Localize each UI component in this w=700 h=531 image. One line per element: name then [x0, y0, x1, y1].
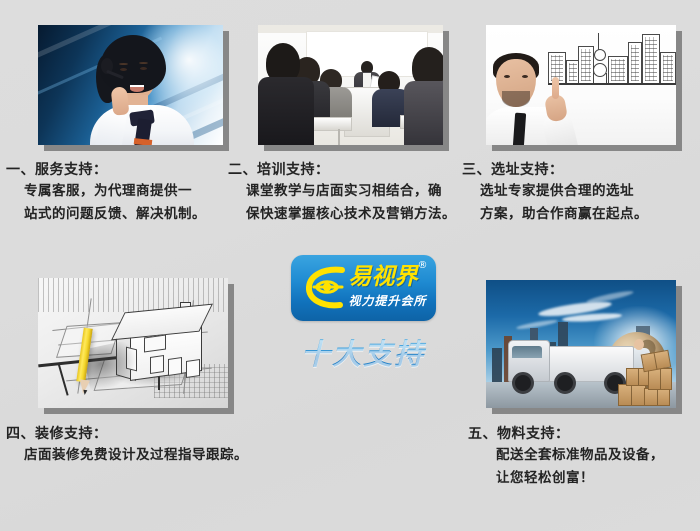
sketched-tv-tower: [592, 39, 606, 83]
caption-body: 选址专家提供合理的选址 方案，助合作商赢在起点。: [462, 180, 648, 226]
caption-body: 课堂教学与店面实习相结合，确 保快速掌握核心技术及营销方法。: [228, 180, 456, 226]
tower-legs: [593, 73, 607, 83]
agent-eye-right: [140, 67, 147, 70]
caption-line: 课堂教学与店面实习相结合，确: [246, 180, 456, 203]
house-window: [150, 355, 164, 374]
caption-training-support: 二、培训支持： 课堂教学与店面实习相结合，确 保快速掌握核心技术及营销方法。: [228, 160, 456, 226]
man-pointing-finger: [552, 77, 559, 99]
student-body: [258, 77, 314, 145]
eye-e-monogram-icon: [302, 263, 350, 311]
truck-wheel: [554, 372, 576, 394]
caption-line: 方案，助合作商赢在起点。: [480, 203, 648, 226]
sketched-building: [608, 56, 628, 83]
caption-line: 专属客服，为代理商提供一: [24, 180, 206, 203]
agent-eyebrow-right: [139, 62, 148, 64]
caption-site-selection-support: 三、选址支持： 选址专家提供合理的选址 方案，助合作商赢在起点。: [462, 160, 648, 226]
desk-leg: [338, 129, 340, 145]
photo-service-support: [38, 25, 223, 145]
caption-line: 选址专家提供合理的选址: [480, 180, 648, 203]
promo-poster: 一、服务支持： 专属客服，为代理商提供一 站式的问题反馈、解决机制。 二、培训支…: [0, 0, 700, 531]
photo-training-support-inner: [258, 25, 443, 145]
caption-line: 保快速掌握核心技术及营销方法。: [246, 203, 456, 226]
truck-windshield: [512, 346, 542, 358]
pencil-lead: [83, 390, 88, 396]
city-building: [492, 348, 502, 382]
caption-title: 五、物料支持：: [468, 424, 664, 444]
caption-body: 专属客服，为代理商提供一 站式的问题反馈、解决机制。: [6, 180, 206, 226]
photo-service-support-inner: [38, 25, 223, 145]
agent-eyebrow-left: [119, 63, 128, 65]
photo-decoration-support: [38, 278, 228, 408]
photo-site-selection-support: [486, 25, 676, 145]
sketched-building: [660, 52, 676, 83]
brand-logo-block: 易视界 视力提升会所 ® 十大支持: [283, 255, 443, 370]
brand-subtitle: 视力提升会所: [349, 293, 427, 309]
sketched-building: [628, 42, 642, 83]
agent-smile: [130, 85, 144, 92]
cardboard-box: [618, 384, 646, 406]
caption-decoration-support: 四、装修支持： 店面装修免费设计及过程指导跟踪。: [6, 424, 248, 467]
agent-eye-left: [120, 68, 127, 71]
sketched-building: [642, 34, 660, 83]
caption-line: 站式的问题反馈、解决机制。: [24, 203, 206, 226]
photo-training-support: [258, 25, 443, 145]
caption-title: 一、服务支持：: [6, 160, 206, 180]
man-necktie: [513, 113, 526, 145]
agent-necktie-accent: [134, 138, 153, 145]
photo-materials-support: [486, 280, 676, 408]
delivery-worker-head: [634, 339, 644, 350]
caption-body: 店面装修免费设计及过程指导跟踪。: [6, 444, 248, 467]
tower-sphere-upper: [594, 49, 606, 61]
caption-body: 配送全套标准物品及设备， 让您轻松创富！: [468, 444, 664, 490]
cardboard-box: [648, 368, 672, 390]
caption-line: 店面装修免费设计及过程指导跟踪。: [24, 444, 248, 467]
brand-logo-badge: 易视界 视力提升会所 ®: [291, 255, 436, 321]
caption-title: 三、选址支持：: [462, 160, 648, 180]
caption-line: 让您轻松创富！: [496, 467, 664, 490]
caption-title: 二、培训支持：: [228, 160, 456, 180]
photo-decoration-support-inner: [38, 278, 228, 408]
truck-wheel: [512, 372, 534, 394]
cardboard-box: [644, 388, 670, 406]
student-body: [404, 81, 443, 145]
slogan-ten-supports: 十大支持: [283, 331, 443, 373]
house-window: [186, 359, 200, 378]
photo-site-selection-support-inner: [486, 25, 676, 145]
house-window: [168, 357, 182, 376]
house-window: [144, 334, 166, 352]
man-eye-right: [522, 75, 528, 78]
photo-materials-support-inner: [486, 280, 676, 408]
brand-name: 易视界: [349, 264, 418, 290]
man-eye-left: [504, 75, 510, 78]
agent-hand: [111, 86, 130, 116]
sketch-ground-line: [548, 83, 676, 85]
registered-trademark-icon: ®: [418, 260, 428, 271]
caption-title: 四、装修支持：: [6, 424, 248, 444]
man-beard: [502, 91, 530, 107]
caption-service-support: 一、服务支持： 专属客服，为代理商提供一 站式的问题反馈、解决机制。: [6, 160, 206, 226]
caption-materials-support: 五、物料支持： 配送全套标准物品及设备， 让您轻松创富！: [468, 424, 664, 490]
caption-line: 配送全套标准物品及设备，: [496, 444, 664, 467]
